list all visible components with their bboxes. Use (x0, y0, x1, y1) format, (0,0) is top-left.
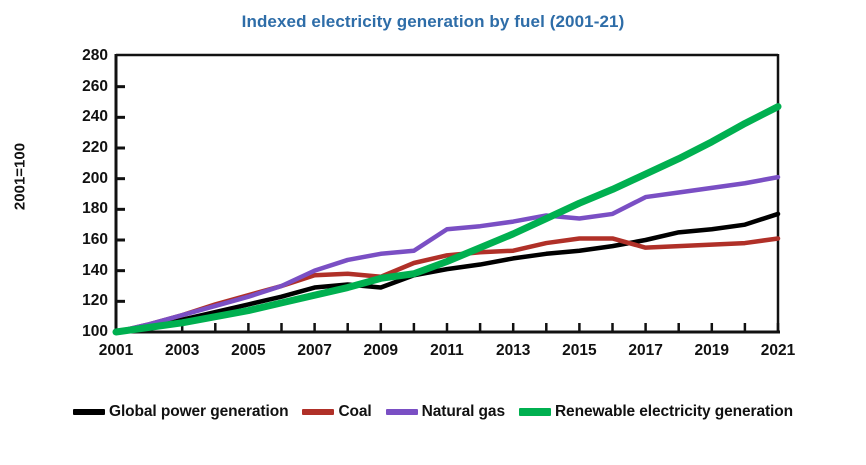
legend-label: Global power generation (109, 403, 288, 421)
chart-container: Indexed electricity generation by fuel (… (0, 0, 866, 465)
legend-swatch-icon (519, 408, 551, 416)
legend-label: Renewable electricity generation (555, 403, 793, 421)
legend-label: Coal (338, 403, 371, 421)
legend-swatch-icon (302, 409, 334, 415)
legend-label: Natural gas (422, 403, 505, 421)
plot-area (0, 0, 866, 465)
legend-item[interactable]: Global power generation (73, 403, 288, 421)
legend-item[interactable]: Renewable electricity generation (519, 403, 793, 421)
legend-item[interactable]: Natural gas (386, 403, 505, 421)
series-line-3 (116, 107, 778, 332)
chart-legend: Global power generationCoalNatural gasRe… (0, 403, 866, 421)
legend-swatch-icon (386, 409, 418, 415)
legend-swatch-icon (73, 409, 105, 415)
legend-item[interactable]: Coal (302, 403, 371, 421)
